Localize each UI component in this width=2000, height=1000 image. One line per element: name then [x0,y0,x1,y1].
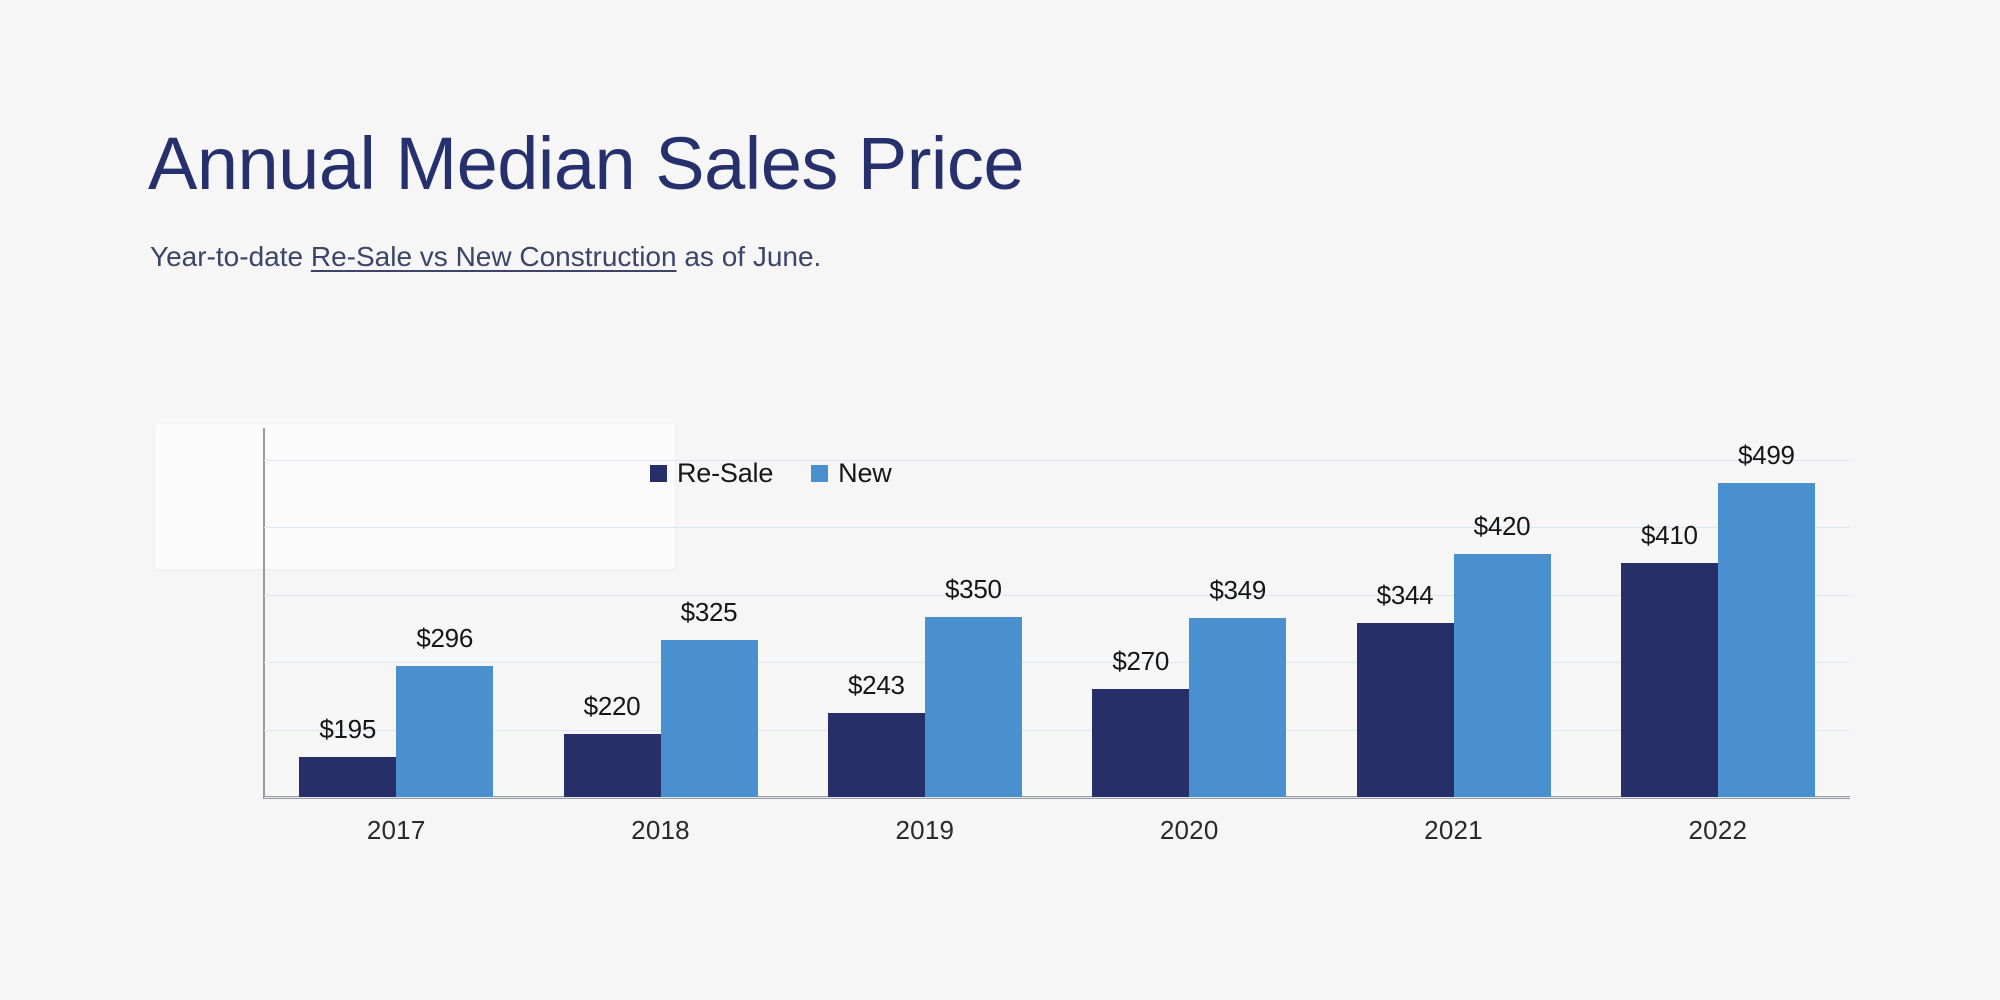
bar-re-sale-2022[interactable] [1621,563,1718,797]
plot-area: $195$296$220$325$243$350$270$349$344$420… [264,460,1850,797]
bar-re-sale-2021[interactable] [1357,623,1454,797]
bar-new-2018[interactable] [661,640,758,797]
bar-re-sale-2018[interactable] [564,734,661,797]
legend-swatch-icon [650,465,667,482]
bar-new-2022[interactable] [1718,483,1815,797]
x-axis-tick-label-2018: 2018 [631,815,690,846]
x-axis-tick-label-2017: 2017 [367,815,426,846]
legend-item-re-sale[interactable]: Re-Sale [650,458,773,489]
bar-value-label: $195 [319,714,376,745]
bar-value-label: $344 [1377,580,1434,611]
bar-re-sale-2020[interactable] [1092,689,1189,797]
gridline [264,662,1850,663]
bar-value-label: $220 [584,691,641,722]
bar-new-2021[interactable] [1454,554,1551,797]
subtitle-underlined-text: Re-Sale vs New Construction [311,241,677,272]
bar-value-label: $270 [1112,646,1169,677]
subtitle-suffix: as of June. [677,241,822,272]
bar-value-label: $350 [945,574,1002,605]
gridline [264,527,1850,528]
x-axis-tick-label-2021: 2021 [1424,815,1483,846]
bar-new-2020[interactable] [1189,618,1286,797]
bar-re-sale-2017[interactable] [299,757,396,797]
legend-label: Re-Sale [677,458,773,489]
x-axis-tick-label-2019: 2019 [896,815,955,846]
chart-legend: Re-SaleNew [650,458,892,489]
bar-value-label: $420 [1474,511,1531,542]
gridline [264,460,1850,461]
bar-value-label: $349 [1209,575,1266,606]
gridline [264,797,1850,798]
bar-value-label: $325 [681,597,738,628]
legend-label: New [838,458,891,489]
page-subtitle: Year-to-date Re-Sale vs New Construction… [150,240,821,274]
page-title: Annual Median Sales Price [148,122,1024,206]
bar-value-label: $296 [416,623,473,654]
bar-re-sale-2019[interactable] [828,713,925,797]
bar-value-label: $243 [848,670,905,701]
bar-new-2019[interactable] [925,617,1022,797]
chart-page: Annual Median Sales Price Year-to-date R… [0,0,2000,1000]
bar-value-label: $499 [1738,440,1795,471]
bar-new-2017[interactable] [396,666,493,797]
x-axis-tick-label-2022: 2022 [1689,815,1748,846]
bar-value-label: $410 [1641,520,1698,551]
gridline [264,595,1850,596]
subtitle-prefix: Year-to-date [150,241,311,272]
legend-swatch-icon [811,465,828,482]
x-axis-tick-label-2020: 2020 [1160,815,1219,846]
legend-item-new[interactable]: New [811,458,891,489]
gridline [264,730,1850,731]
